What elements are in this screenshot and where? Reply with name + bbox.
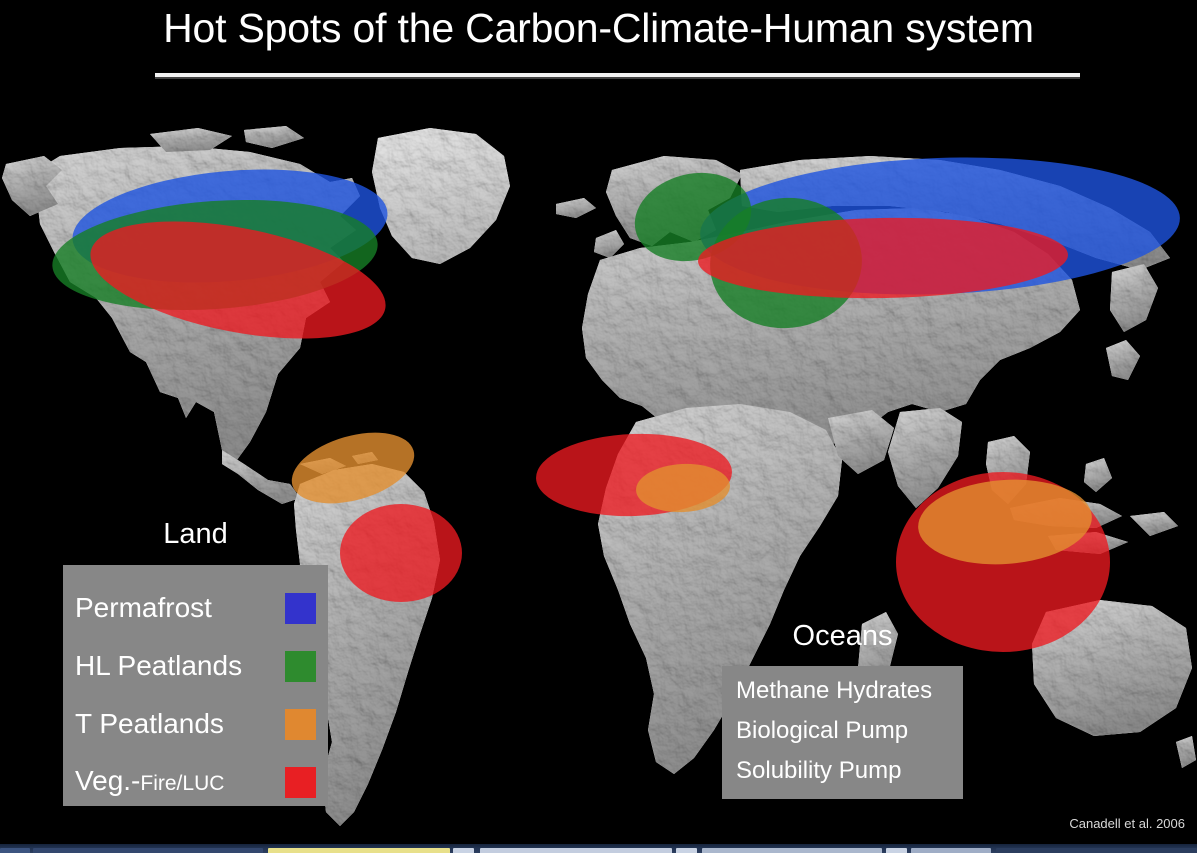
oceans-item-solubility-pump[interactable]: Solubility Pump <box>736 758 901 784</box>
title-underline-rule <box>155 73 1080 77</box>
land-legend-heading: Land <box>63 518 328 550</box>
taskbar-window-4[interactable] <box>702 848 882 853</box>
legend-label-permafrost: Permafrost <box>75 593 212 623</box>
taskbar-start-button[interactable] <box>0 848 30 853</box>
legend-swatch-veg-fire-luc <box>285 767 316 798</box>
land-legend-panel: Permafrost HL Peatlands T Peatlands Veg.… <box>63 565 328 806</box>
legend-label-veg-prefix: Veg.- <box>75 765 140 796</box>
page-title: Hot Spots of the Carbon-Climate-Human sy… <box>0 2 1197 54</box>
hotspot-veg-fire-amazon <box>340 504 462 602</box>
legend-label-t-peatlands: T Peatlands <box>75 709 224 739</box>
legend-item-t-peatlands[interactable]: T Peatlands <box>75 697 320 751</box>
legend-item-permafrost[interactable]: Permafrost <box>75 581 320 635</box>
oceans-item-biological-pump[interactable]: Biological Pump <box>736 718 908 744</box>
legend-swatch-permafrost <box>285 593 316 624</box>
legend-swatch-t-peatlands <box>285 709 316 740</box>
taskbar-system-tray[interactable] <box>996 848 1197 853</box>
legend-label-hl-peatlands: HL Peatlands <box>75 651 242 681</box>
taskbar-separator-1 <box>453 848 474 853</box>
taskbar-sliver[interactable] <box>0 844 1197 853</box>
oceans-legend-panel: Methane Hydrates Biological Pump Solubil… <box>722 666 963 799</box>
taskbar-separator-2 <box>676 848 697 853</box>
legend-label-veg-fire-luc: Veg.-Fire/LUC <box>75 766 224 799</box>
taskbar-window-2[interactable] <box>268 848 450 853</box>
source-citation: Canadell et al. 2006 <box>1069 816 1185 831</box>
legend-item-hl-peatlands[interactable]: HL Peatlands <box>75 639 320 693</box>
taskbar-window-5[interactable] <box>911 848 991 853</box>
legend-label-veg-suffix: Fire/LUC <box>140 772 224 795</box>
legend-item-veg-fire-luc[interactable]: Veg.-Fire/LUC <box>75 755 320 809</box>
taskbar-separator-3 <box>886 848 907 853</box>
taskbar-window-3[interactable] <box>480 848 672 853</box>
slide-canvas: Hot Spots of the Carbon-Climate-Human sy… <box>0 0 1197 853</box>
legend-swatch-hl-peatlands <box>285 651 316 682</box>
oceans-item-methane-hydrates[interactable]: Methane Hydrates <box>736 678 932 704</box>
oceans-legend-heading: Oceans <box>722 620 963 652</box>
taskbar-window-1[interactable] <box>33 848 263 853</box>
